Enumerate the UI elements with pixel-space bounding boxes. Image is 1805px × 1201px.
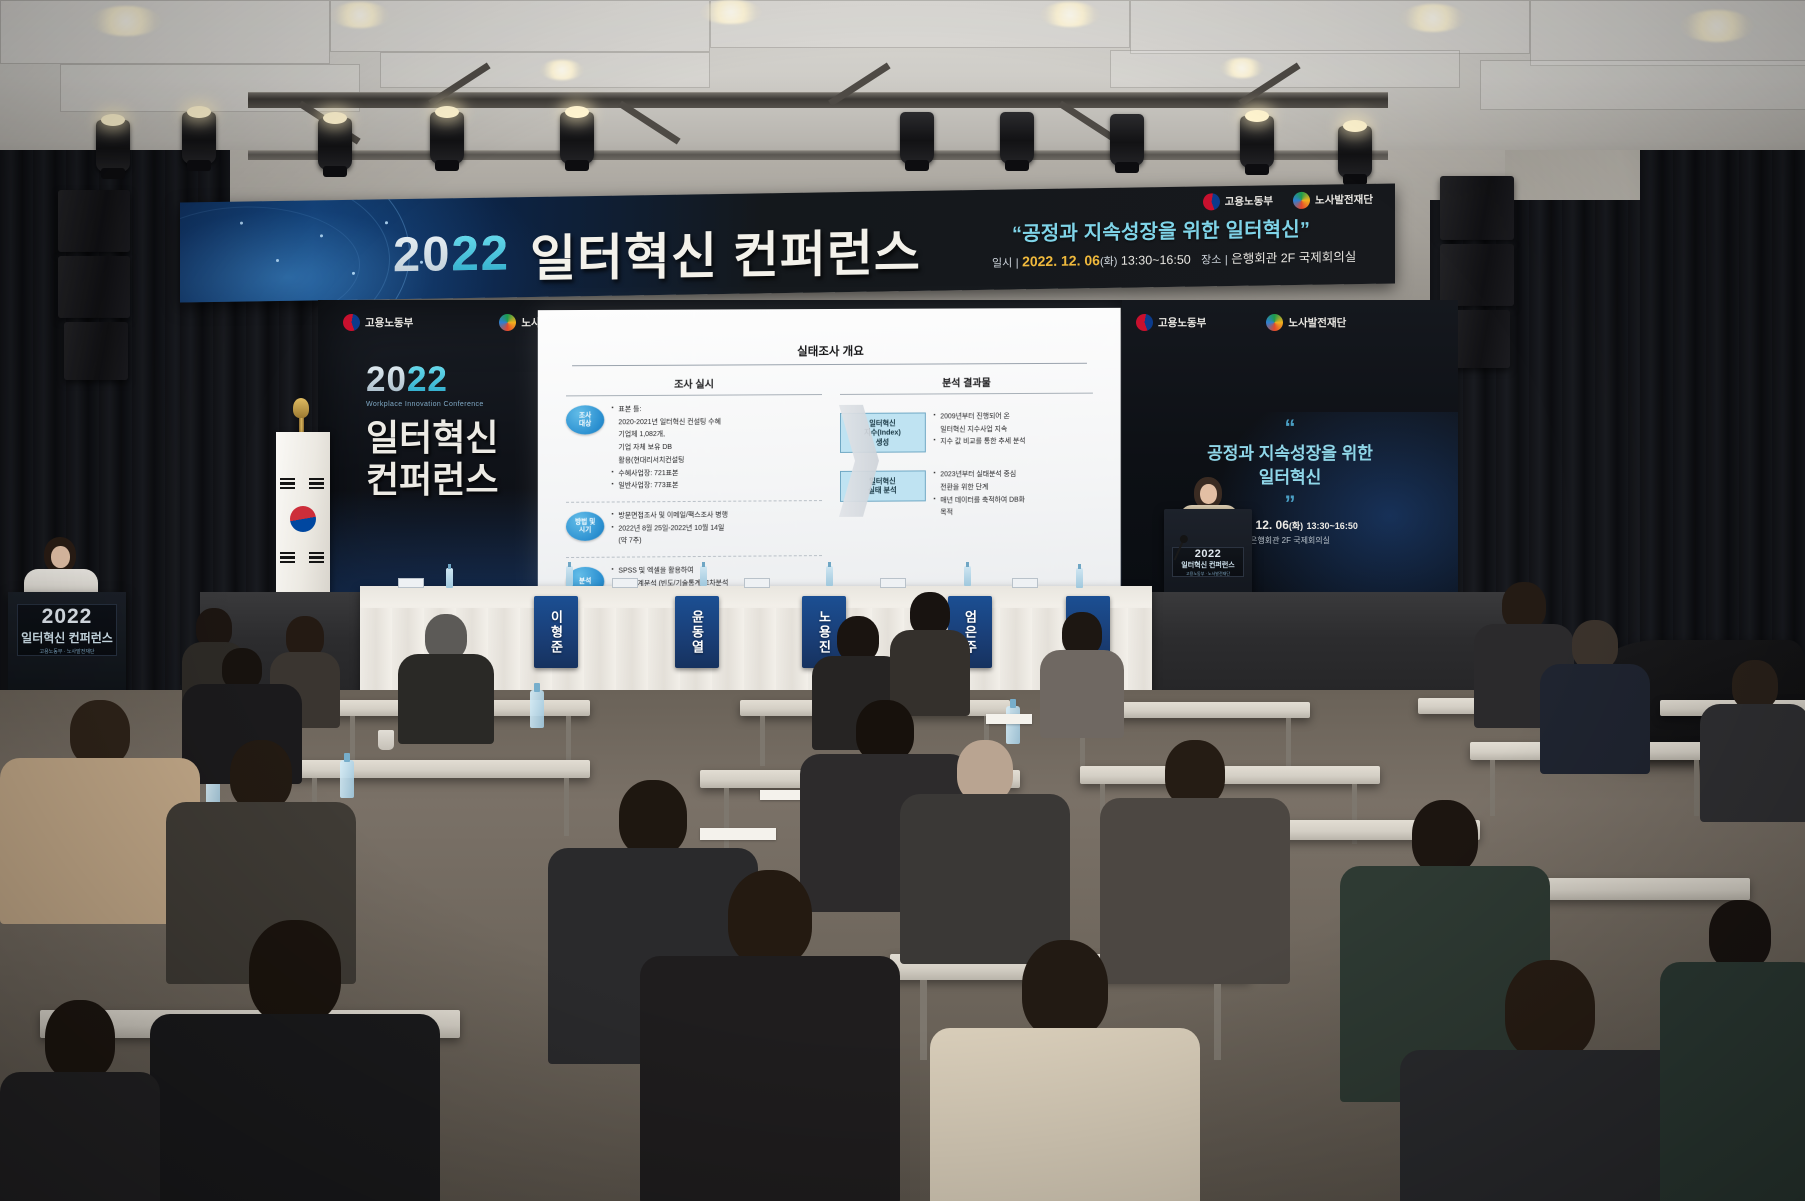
stage-spotlight	[1338, 126, 1372, 178]
table-mic-base	[744, 578, 770, 588]
lighting-truss-lower	[248, 150, 1388, 160]
handout-paper	[986, 714, 1032, 724]
pa-speaker	[1440, 176, 1514, 240]
stage-spotlight	[900, 112, 934, 164]
right-edge-curtain	[1640, 150, 1805, 710]
audience-member	[1400, 960, 1700, 1201]
place-value: 은행회관 2F 국제회의실	[1231, 250, 1356, 266]
date-value: 2022. 12. 06	[1022, 252, 1100, 269]
pa-speaker	[1440, 244, 1514, 306]
water-bottle	[1076, 568, 1083, 588]
date-label: 일시	[992, 257, 1012, 269]
water-bottle	[964, 566, 971, 586]
audience-member	[1660, 900, 1805, 1201]
banner-organizer-logos: 고용노동부 노사발전재단	[1203, 191, 1373, 211]
audience-member	[890, 592, 970, 712]
moel-emblem-icon	[343, 314, 360, 331]
audience-member	[900, 740, 1070, 960]
organizer-moel: 고용노동부	[1136, 314, 1206, 331]
audience-member	[930, 940, 1200, 1201]
audience-member	[0, 1000, 160, 1201]
projection-slide: 실태조사 개요 조사 실시 조사대상 표본 틀: 2020-2021년 일터혁신…	[538, 308, 1121, 594]
pa-speaker	[64, 322, 128, 380]
audience-member	[640, 870, 900, 1201]
podium-title: 일터혁신 컨퍼런스	[21, 629, 113, 646]
stage-spotlight	[1240, 116, 1274, 168]
slide-result-group: 일터혁신 지수(Index) 생성 2009년부터 진행되어 온 일터혁신 지수…	[839, 412, 1092, 453]
slide-badge: 방법 및시기	[566, 512, 604, 541]
time-value: 13:30~16:50	[1121, 253, 1191, 268]
lighting-truss	[248, 92, 1388, 108]
stage-spotlight	[1110, 114, 1144, 166]
water-bottle	[530, 690, 544, 728]
slide-bullets: 방문면접조사 및 이메일/팩스조사 병행 2022년 8월 25일-2022년 …	[611, 511, 728, 550]
table-mic-base	[880, 578, 906, 588]
slide-right-header: 분석 결과물	[839, 374, 1092, 390]
water-bottle	[1006, 706, 1020, 744]
slide-right-column: 분석 결과물 일터혁신 지수(Index) 생성 2009년부터 진행되어 온 …	[839, 374, 1092, 594]
flag-finial-icon	[293, 398, 309, 418]
banner-year: 2022	[393, 225, 510, 283]
moel-emblem-icon	[1136, 314, 1153, 331]
slide-title: 실태조사 개요	[548, 342, 1111, 361]
backdrop-english-tag: Workplace Innovation Conference	[366, 401, 498, 408]
slide-bullets: 표본 틀: 2020-2021년 일터혁신 컨설팅 수혜 기업체 1,082개,…	[611, 405, 721, 495]
moel-emblem-icon	[1203, 193, 1220, 210]
podium-branding: 2022 일터혁신 컨퍼런스 고용노동부 · 노사발전재단	[17, 604, 117, 656]
audience-member	[1540, 620, 1650, 770]
water-bottle	[566, 566, 573, 586]
organizer-moel: 고용노동부	[1203, 192, 1273, 210]
backdrop-title: 일터혁신 컨퍼런스	[366, 417, 498, 501]
water-bottle	[826, 566, 833, 586]
panel-logos: 고용노동부 노사발전재단	[1136, 314, 1346, 331]
slide-bullets: 2023년부터 실태분석 중심 전환을 위한 단계 매년 데이터를 축적하여 D…	[933, 470, 1025, 521]
organizer-moel: 고용노동부	[343, 314, 413, 331]
left-podium: 2022 일터혁신 컨퍼런스 고용노동부 · 노사발전재단	[8, 592, 126, 702]
podium-year: 2022	[42, 605, 93, 629]
slide-badge: 조사대상	[566, 405, 604, 434]
slide-left-header: 조사 실시	[566, 375, 821, 391]
backdrop-year: 2022	[366, 360, 498, 400]
main-stage-banner: 2022 일터혁신 컨퍼런스 “공정과 지속성장을 위한 일터혁신” 일시 | …	[180, 183, 1395, 302]
date-day: (화)	[1100, 256, 1117, 268]
audience-member	[398, 614, 494, 740]
banner-info-line: 일시 | 2022. 12. 06(화) 13:30~16:50 장소 | 은행…	[992, 246, 1356, 271]
audience-member	[150, 920, 440, 1201]
water-bottle	[700, 566, 707, 586]
conference-hall-photo: 2022 일터혁신 컨퍼런스 “공정과 지속성장을 위한 일터혁신” 일시 | …	[0, 0, 1805, 1201]
table-mic-base	[612, 578, 638, 588]
podium-organizers: 고용노동부 · 노사발전재단	[39, 648, 94, 655]
banner-slogan: “공정과 지속성장을 위한 일터혁신”	[1012, 213, 1310, 247]
water-bottle	[446, 568, 453, 588]
stage-spotlight	[318, 118, 352, 170]
stage-spotlight	[1000, 112, 1034, 164]
taeguk-icon	[290, 506, 316, 532]
stage-spotlight	[560, 112, 594, 164]
slide-bullets: 2009년부터 진행되어 온 일터혁신 지수사업 지속 지수 값 비교를 통한 …	[933, 412, 1025, 451]
lectern-year: 2022	[1195, 548, 1221, 560]
organizer-nosa: 노사발전재단	[1266, 314, 1346, 331]
name-placard: 이형준	[534, 596, 578, 668]
audience-member	[1700, 660, 1805, 820]
banner-title: 일터혁신 컨퍼런스	[530, 213, 921, 291]
nosa-emblem-icon	[499, 314, 516, 331]
nosa-emblem-icon	[1266, 314, 1283, 331]
slide-left-column: 조사 실시 조사대상 표본 틀: 2020-2021년 일터혁신 컨설팅 수혜 …	[566, 375, 821, 593]
quote-open-icon: “	[1122, 420, 1458, 435]
slide-result-group: 일터혁신 실태 분석 2023년부터 실태분석 중심 전환을 위한 단계 매년 …	[839, 469, 1092, 521]
slide-group: 방법 및시기 방문면접조사 및 이메일/팩스조사 병행 2022년 8월 25일…	[566, 510, 821, 550]
coffee-cup	[378, 730, 394, 750]
stage-spotlight	[430, 112, 464, 164]
organizer-nosa: 노사발전재단	[1293, 191, 1373, 209]
backdrop-title-block: 2022 Workplace Innovation Conference 일터혁…	[366, 360, 498, 501]
panel-slogan: 공정과 지속성장을 위한 일터혁신	[1122, 442, 1458, 489]
pa-speaker	[58, 190, 130, 252]
pa-speaker	[58, 256, 130, 318]
audience-member	[1040, 612, 1124, 734]
slide-group: 조사대상 표본 틀: 2020-2021년 일터혁신 컨설팅 수혜 기업체 1,…	[566, 404, 821, 495]
lectern-organizers: 고용노동부 · 노사발전재단	[1186, 571, 1230, 577]
lectern-branding: 2022 일터혁신 컨퍼런스 고용노동부 · 노사발전재단	[1172, 547, 1244, 577]
stage-spotlight	[96, 120, 130, 172]
stage-spotlight	[182, 112, 216, 164]
name-placard: 윤동열	[675, 596, 719, 668]
table-mic-base	[1012, 578, 1038, 588]
place-label: 장소	[1201, 254, 1221, 266]
lectern-title: 일터혁신 컨퍼런스	[1181, 560, 1234, 570]
nosa-emblem-icon	[1293, 192, 1310, 209]
table-mic-base	[398, 578, 424, 588]
podium-lectern: 2022 일터혁신 컨퍼런스 고용노동부 · 노사발전재단	[1164, 509, 1252, 603]
